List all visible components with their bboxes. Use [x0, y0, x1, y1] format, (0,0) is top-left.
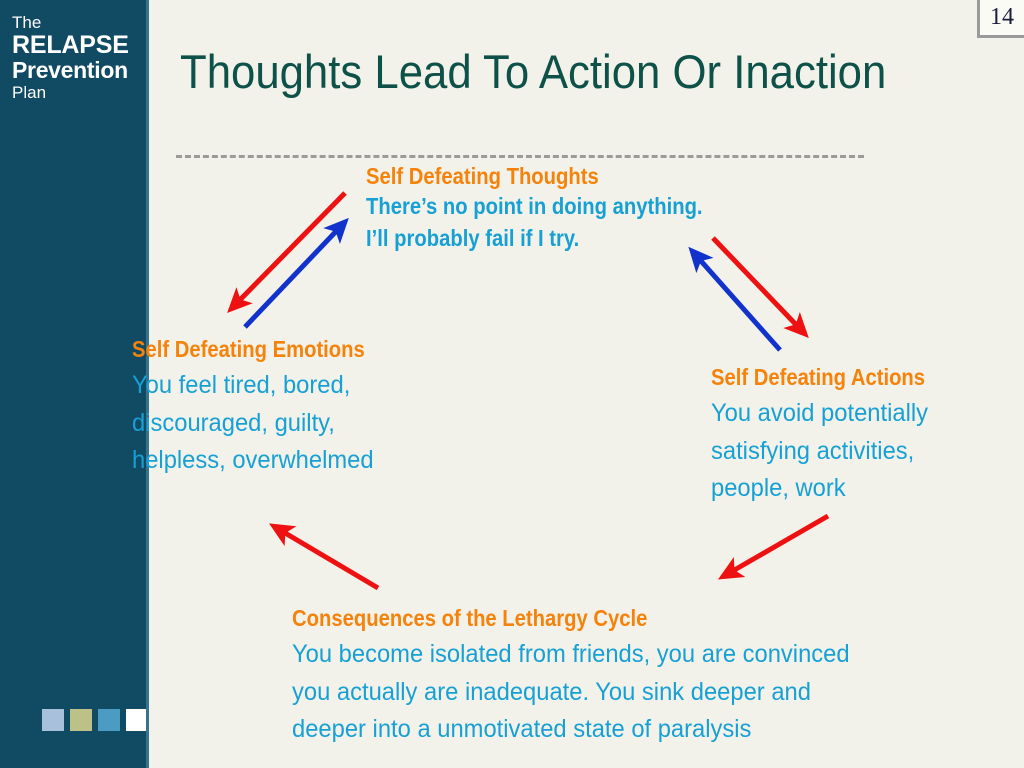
swatch-khaki	[70, 709, 92, 731]
node-heading: Consequences of the Lethargy Cycle	[292, 604, 808, 632]
arrow-thoughts-to-emotions-red	[232, 193, 345, 308]
page-number-badge: 14	[977, 0, 1024, 38]
node-body-line: people, work	[711, 470, 942, 508]
node-self-defeating-thoughts: Self Defeating Thoughts There’s no point…	[366, 162, 748, 254]
node-body-line: deeper into a unmotivated state of paral…	[292, 711, 850, 749]
node-heading: Self Defeating Thoughts	[366, 162, 703, 190]
node-body-line: You become isolated from friends, you ar…	[292, 636, 850, 674]
arrow-actions-to-consequences-red	[724, 516, 828, 576]
node-body-line: you actually are inadequate. You sink de…	[292, 674, 850, 712]
dashed-divider	[176, 155, 864, 158]
brand-line-plan: Plan	[12, 84, 144, 101]
swatch-white	[126, 709, 148, 731]
brand-line-prevention: Prevention	[12, 59, 144, 82]
swatch-blue	[98, 709, 120, 731]
node-body: You become isolated from friends, you ar…	[292, 636, 850, 749]
arrow-consequences-to-emotions-red	[275, 527, 378, 588]
brand-swatch-row	[42, 709, 148, 731]
node-body-line: I’ll probably fail if I try.	[366, 224, 703, 254]
node-body-line: There’s no point in doing anything.	[366, 192, 703, 222]
brand-line-the: The	[12, 14, 144, 31]
brand-line-relapse: RELAPSE	[12, 33, 144, 58]
node-self-defeating-emotions: Self Defeating Emotions You feel tired, …	[132, 335, 397, 480]
arrow-actions-to-thoughts-blue	[693, 252, 780, 350]
node-body-line: discouraged, guilty,	[132, 405, 383, 443]
node-self-defeating-actions: Self Defeating Actions You avoid potenti…	[711, 363, 954, 508]
swatch-steel-blue	[42, 709, 64, 731]
slide-canvas: The RELAPSE Prevention Plan 14 Thoughts …	[0, 0, 1024, 768]
node-body: You avoid potentially satisfying activit…	[711, 395, 942, 508]
page-title: Thoughts Lead To Action Or Inaction	[180, 44, 924, 99]
brand-sidebar: The RELAPSE Prevention Plan	[0, 0, 146, 768]
node-consequences: Consequences of the Lethargy Cycle You b…	[292, 604, 879, 749]
node-body-line: You feel tired, bored,	[132, 367, 383, 405]
node-body-line: helpless, overwhelmed	[132, 442, 383, 480]
node-body: You feel tired, bored, discouraged, guil…	[132, 367, 383, 480]
node-heading: Self Defeating Actions	[711, 363, 925, 391]
node-body-line: satisfying activities,	[711, 433, 942, 471]
arrow-emotions-to-thoughts-blue	[245, 223, 344, 327]
brand-logo: The RELAPSE Prevention Plan	[12, 14, 144, 101]
node-heading: Self Defeating Emotions	[132, 335, 365, 363]
node-body-line: You avoid potentially	[711, 395, 942, 433]
